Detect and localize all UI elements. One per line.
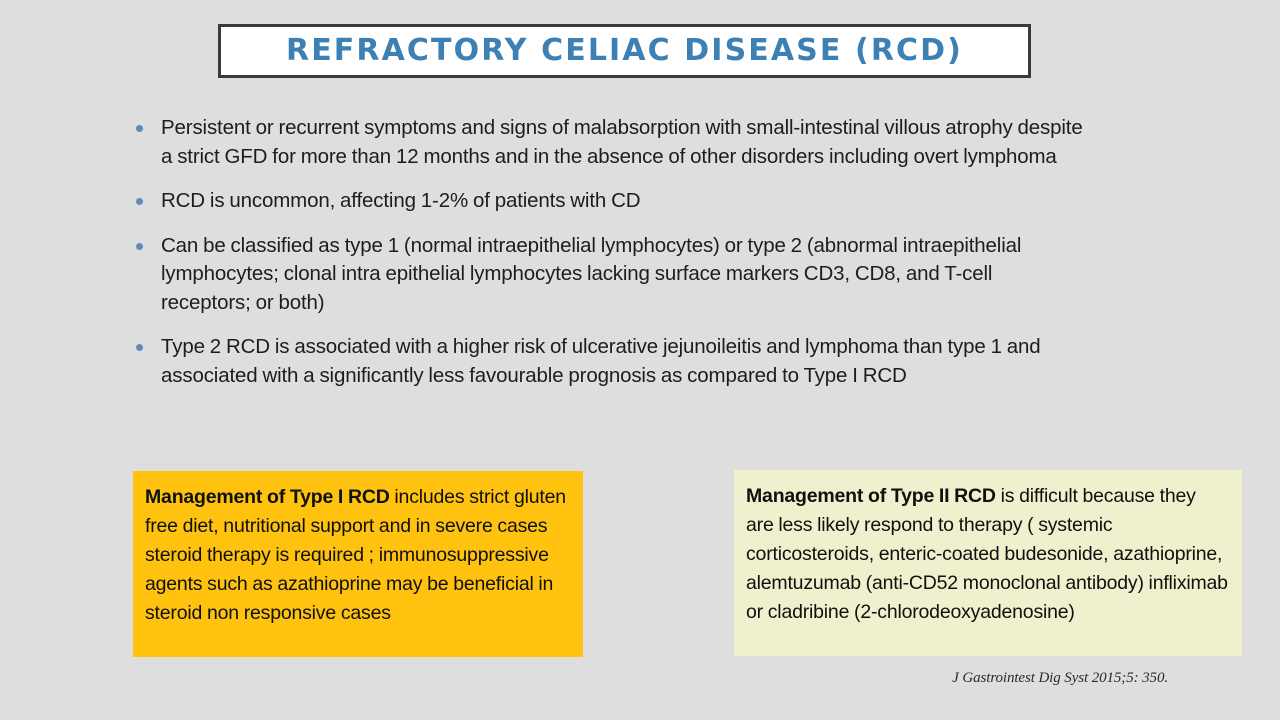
callout-type-2-management: Management of Type II RCD is difficult b… [734, 470, 1242, 656]
source-citation: J Gastrointest Dig Syst 2015;5: 350. [0, 670, 1168, 687]
list-item-text: Can be classified as type 1 (normal intr… [161, 232, 1086, 318]
list-item-text: Type 2 RCD is associated with a higher r… [161, 333, 1086, 390]
bullet-dot-icon [136, 344, 143, 351]
page-title: REFRACTORY CELIAC DISEASE (RCD) [286, 36, 963, 66]
bullet-list: Persistent or recurrent symptoms and sig… [136, 114, 1086, 406]
callout-type-1-heading: Management of Type I RCD [145, 486, 390, 508]
bullet-dot-icon [136, 198, 143, 205]
list-item: RCD is uncommon, affecting 1-2% of patie… [136, 187, 1086, 216]
bullet-dot-icon [136, 125, 143, 132]
list-item: Type 2 RCD is associated with a higher r… [136, 333, 1086, 390]
bullet-dot-icon [136, 243, 143, 250]
callout-type-2-heading: Management of Type II RCD [746, 485, 996, 507]
list-item-text: Persistent or recurrent symptoms and sig… [161, 114, 1086, 171]
list-item: Persistent or recurrent symptoms and sig… [136, 114, 1086, 171]
slide-title-box: REFRACTORY CELIAC DISEASE (RCD) [218, 24, 1031, 78]
callout-type-1-management: Management of Type I RCD includes strict… [133, 471, 583, 657]
list-item-text: RCD is uncommon, affecting 1-2% of patie… [161, 187, 1086, 216]
list-item: Can be classified as type 1 (normal intr… [136, 232, 1086, 318]
